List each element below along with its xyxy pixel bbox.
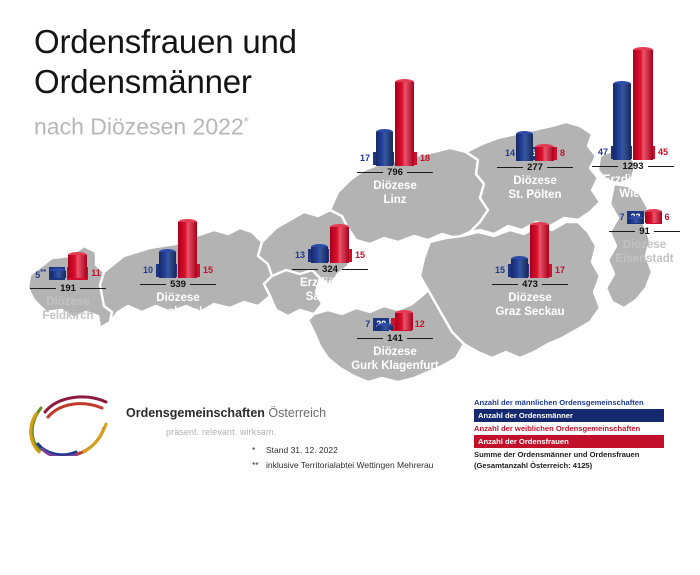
total-row: 141 [330, 333, 460, 344]
bar-men[interactable] [511, 259, 528, 278]
diocese-name: Diözese Graz Seckau [470, 292, 590, 319]
total-value: 796 [383, 167, 407, 178]
bar-women[interactable] [178, 222, 197, 278]
total-row: 91 [592, 226, 697, 237]
legend-item-women: Anzahl der Ordensfrauen [474, 435, 664, 448]
bar-body [395, 313, 413, 330]
total-rule-right [407, 338, 433, 339]
diocese-name: Diözese Feldkirch [8, 296, 128, 323]
total-row: 473 [470, 279, 590, 290]
diocese-name: Diözese Linz [335, 180, 455, 207]
bar-group [8, 150, 128, 278]
bar-body [530, 225, 549, 278]
diocese-name-line-2: Linz [335, 194, 455, 208]
diocese-name-line-1: Diözese [335, 180, 455, 194]
total-row: 539 [118, 279, 238, 290]
bar-body [50, 271, 66, 278]
diocese-name-line-2: Graz Seckau [470, 306, 590, 320]
logo-name: Ordensgemeinschaften Österreich [126, 406, 326, 421]
logo-claim: präsent. relevant. wirksam. [166, 427, 326, 437]
legend: Anzahl der männlichen Ordensgemeinschaft… [474, 398, 664, 472]
total-rule-right [190, 284, 216, 285]
total-row: 796 [335, 167, 455, 178]
diocese-cluster-linz[interactable]: 17 230 566 18 796 Diözese Linz [335, 28, 455, 207]
diocese-name-line-2: Gurk Klagenfurt [330, 360, 460, 374]
bar-body [178, 222, 197, 278]
diocese-name-line-1: Diözese [592, 239, 697, 253]
infographic-canvas: Ordensfrauen und Ordensmänner nach Diöze… [0, 0, 700, 494]
legend-item-female-communities: Anzahl der weiblichen Ordensgemeinschaft… [474, 424, 664, 433]
logo-mark-icon [28, 392, 120, 456]
total-rule-left [30, 288, 56, 289]
footnote-1: *Stand 31. 12. 2022 [252, 443, 433, 458]
logo-name-light: Österreich [268, 406, 326, 420]
diocese-cluster-gurkklagenfurt[interactable]: 7 29 112 12 141 Diözese Gurk Klagenfurt [330, 212, 460, 373]
diocese-name: Diözese Eisenstadt [592, 239, 697, 266]
logo[interactable]: Ordensgemeinschaften Österreich präsent.… [28, 392, 243, 458]
total-value: 141 [383, 333, 407, 344]
bar-men[interactable] [311, 247, 328, 263]
bar-group [470, 142, 590, 278]
footnote-2-marker: ** [252, 458, 266, 473]
bar-men[interactable] [50, 271, 66, 278]
total-rule-left [292, 269, 318, 270]
diocese-cluster-innsbruck[interactable]: 10 176 363 15 539 Diözese Innsbruck [118, 140, 238, 319]
footnote-2: **inklusive Territorialabtei Wettingen M… [252, 458, 433, 473]
diocese-cluster-feldkirch[interactable]: 5** 44 147 11 191 Diözese Feldkirch [8, 150, 128, 323]
total-rule-left [357, 338, 383, 339]
total-value: 539 [166, 279, 190, 290]
total-value: 473 [518, 279, 542, 290]
bar-men[interactable] [377, 326, 393, 330]
legend-item-male-communities: Anzahl der männlichen Ordensgemeinschaft… [474, 398, 664, 407]
footnote-1-marker: * [252, 443, 266, 458]
bar-women[interactable] [395, 82, 414, 166]
bar-body [511, 259, 528, 278]
footnote-2-text: inklusive Territorialabtei Wettingen Meh… [266, 460, 433, 470]
bar-body [628, 219, 643, 223]
total-value: 91 [635, 226, 654, 237]
diocese-name-line-1: Diözese [118, 292, 238, 306]
bar-body [377, 326, 393, 330]
bar-group [118, 140, 238, 278]
diocese-cluster-grazseckau[interactable]: 15 130 343 17 473 Diözese Graz Seckau [470, 142, 590, 319]
legend-item-grand-total: (Gesamtanzahl Österreich: 4125) [474, 461, 664, 470]
legend-item-sum: Summe der Ordensmänner und Ordensfrauen [474, 450, 664, 459]
total-value: 191 [56, 283, 80, 294]
total-rule-right [407, 172, 433, 173]
total-rule-right [80, 288, 106, 289]
bar-body [159, 252, 176, 278]
total-rule-left [140, 284, 166, 285]
diocese-name-line-1: Diözese [470, 292, 590, 306]
legend-item-men: Anzahl der Ordensmänner [474, 409, 664, 422]
bar-women[interactable] [68, 255, 87, 278]
bar-men[interactable] [628, 219, 643, 223]
diocese-name-line-2: Eisenstadt [592, 253, 697, 267]
bar-women[interactable] [395, 313, 413, 330]
diocese-name-line-1: Diözese [8, 296, 128, 310]
bar-group [592, 105, 697, 223]
bar-men[interactable] [376, 132, 393, 166]
bar-women[interactable] [645, 212, 662, 223]
total-row: 191 [8, 283, 128, 294]
diocese-name-line-2: Feldkirch [8, 310, 128, 324]
total-rule-right [542, 284, 568, 285]
diocese-name: Diözese Gurk Klagenfurt [330, 346, 460, 373]
diocese-name: Diözese Innsbruck [118, 292, 238, 319]
diocese-cluster-eisenstadt[interactable]: 7 23 68 6 91 Diözese Eisenstadt [592, 105, 697, 266]
logo-name-bold: Ordensgemeinschaften [126, 406, 265, 420]
total-rule-left [357, 172, 383, 173]
total-rule-left [492, 284, 518, 285]
bar-men[interactable] [159, 252, 176, 278]
total-rule-left [609, 231, 635, 232]
footnotes: *Stand 31. 12. 2022 **inklusive Territor… [252, 443, 433, 473]
diocese-name-line-1: Diözese [330, 346, 460, 360]
diocese-name-line-2: Innsbruck [118, 306, 238, 320]
bar-body [645, 212, 662, 223]
total-rule-right [654, 231, 680, 232]
logo-text: Ordensgemeinschaften Österreich präsent.… [126, 406, 326, 437]
bar-women[interactable] [530, 225, 549, 278]
bar-group [335, 28, 455, 166]
bar-group [330, 212, 460, 330]
footnote-1-text: Stand 31. 12. 2022 [266, 445, 338, 455]
bar-body [395, 82, 414, 166]
bar-body [68, 255, 87, 278]
bar-body [376, 132, 393, 166]
bar-body [311, 247, 328, 263]
